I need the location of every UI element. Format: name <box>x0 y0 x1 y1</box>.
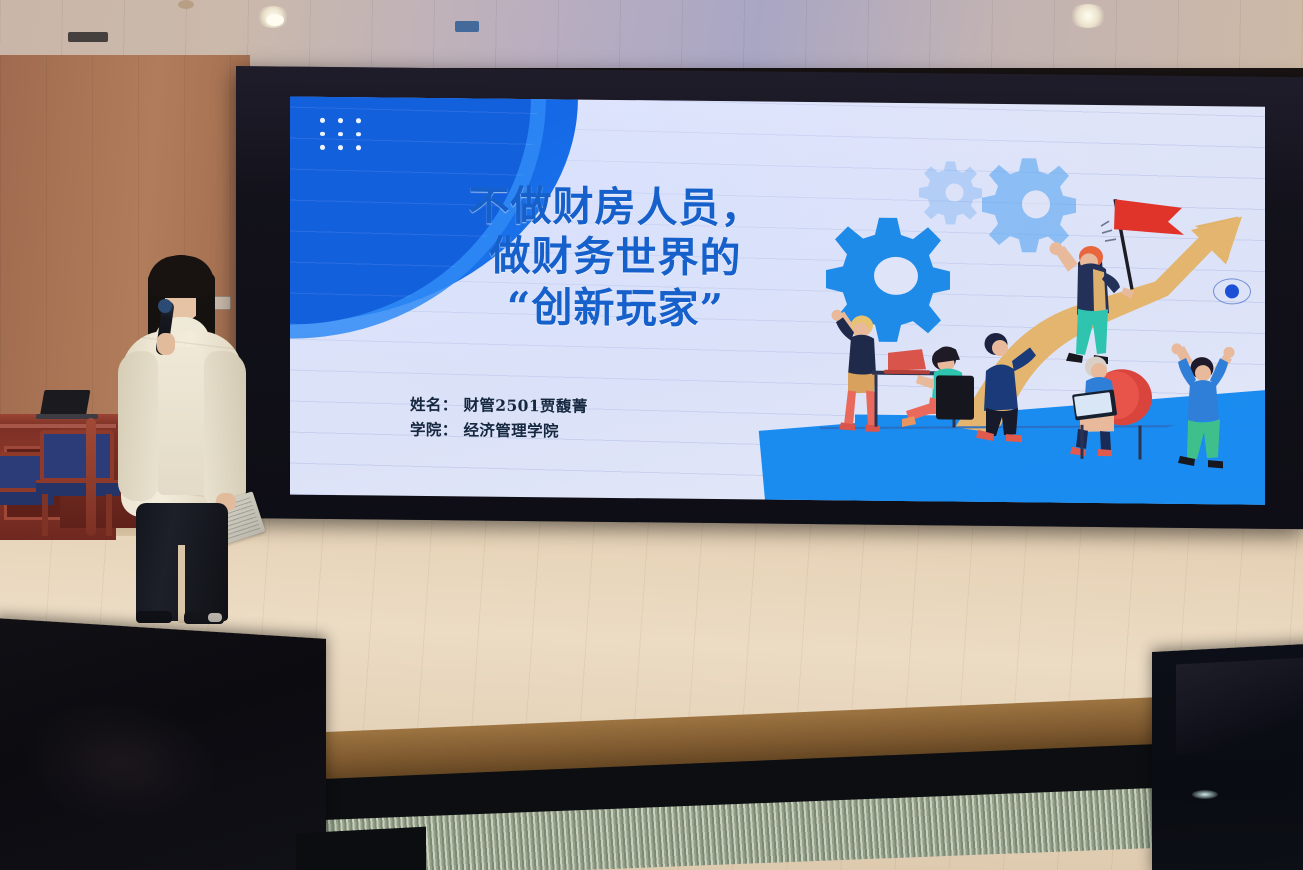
presenter-hair-front <box>148 256 214 298</box>
gear-medium-icon <box>982 158 1076 253</box>
presenter-left-arm <box>118 351 158 501</box>
foreground-monitor-left-edge <box>296 827 426 870</box>
presenter-inner-top <box>158 347 204 495</box>
slide-presenter-info: 姓名： 财管2501贾馥菁 学院： 经济管理学院 <box>410 392 588 444</box>
gear-small-icon <box>919 161 982 225</box>
ceiling-vent <box>68 32 108 42</box>
ceiling-spotlight <box>266 14 284 26</box>
team-growth-illustration <box>810 126 1265 491</box>
presenter-right-arm <box>204 351 246 509</box>
microphone-head-icon <box>158 299 172 313</box>
chair-front[interactable] <box>36 430 122 526</box>
chair-arm-rail <box>86 418 96 536</box>
presenter-right-shoe <box>184 611 224 624</box>
foreground-monitor-left[interactable] <box>0 618 326 870</box>
presentation-slide[interactable]: 不做财房人员， 做财务世界的 “创新玩家” 姓名： 财管2501贾馥菁 学院： … <box>290 97 1265 505</box>
presenter-left-hand <box>157 333 175 355</box>
ceiling-speaker <box>178 0 194 9</box>
presentation-scene: 不做财房人员， 做财务世界的 “创新玩家” 姓名： 财管2501贾馥菁 学院： … <box>0 0 1303 870</box>
dot-grid-icon <box>320 118 365 150</box>
presenter-name-line: 姓名： 财管2501贾馥菁 <box>410 392 588 419</box>
slide-title: 不做财房人员， 做财务世界的 “创新玩家” <box>378 179 853 335</box>
presenter-left-shoe <box>136 611 172 623</box>
foreground-monitor-right-reflection <box>1192 790 1218 799</box>
foreground-monitor-right-sheen <box>1176 656 1303 755</box>
presenter-college-line: 学院： 经济管理学院 <box>410 417 588 444</box>
student-presenter <box>112 255 248 623</box>
ceiling-downlight <box>1068 4 1108 28</box>
presenter-leg-gap <box>178 545 185 623</box>
projection-screen-frame: 不做财房人员， 做财务世界的 “创新玩家” 姓名： 财管2501贾馥菁 学院： … <box>236 66 1303 529</box>
ceiling-indicator <box>455 21 479 32</box>
